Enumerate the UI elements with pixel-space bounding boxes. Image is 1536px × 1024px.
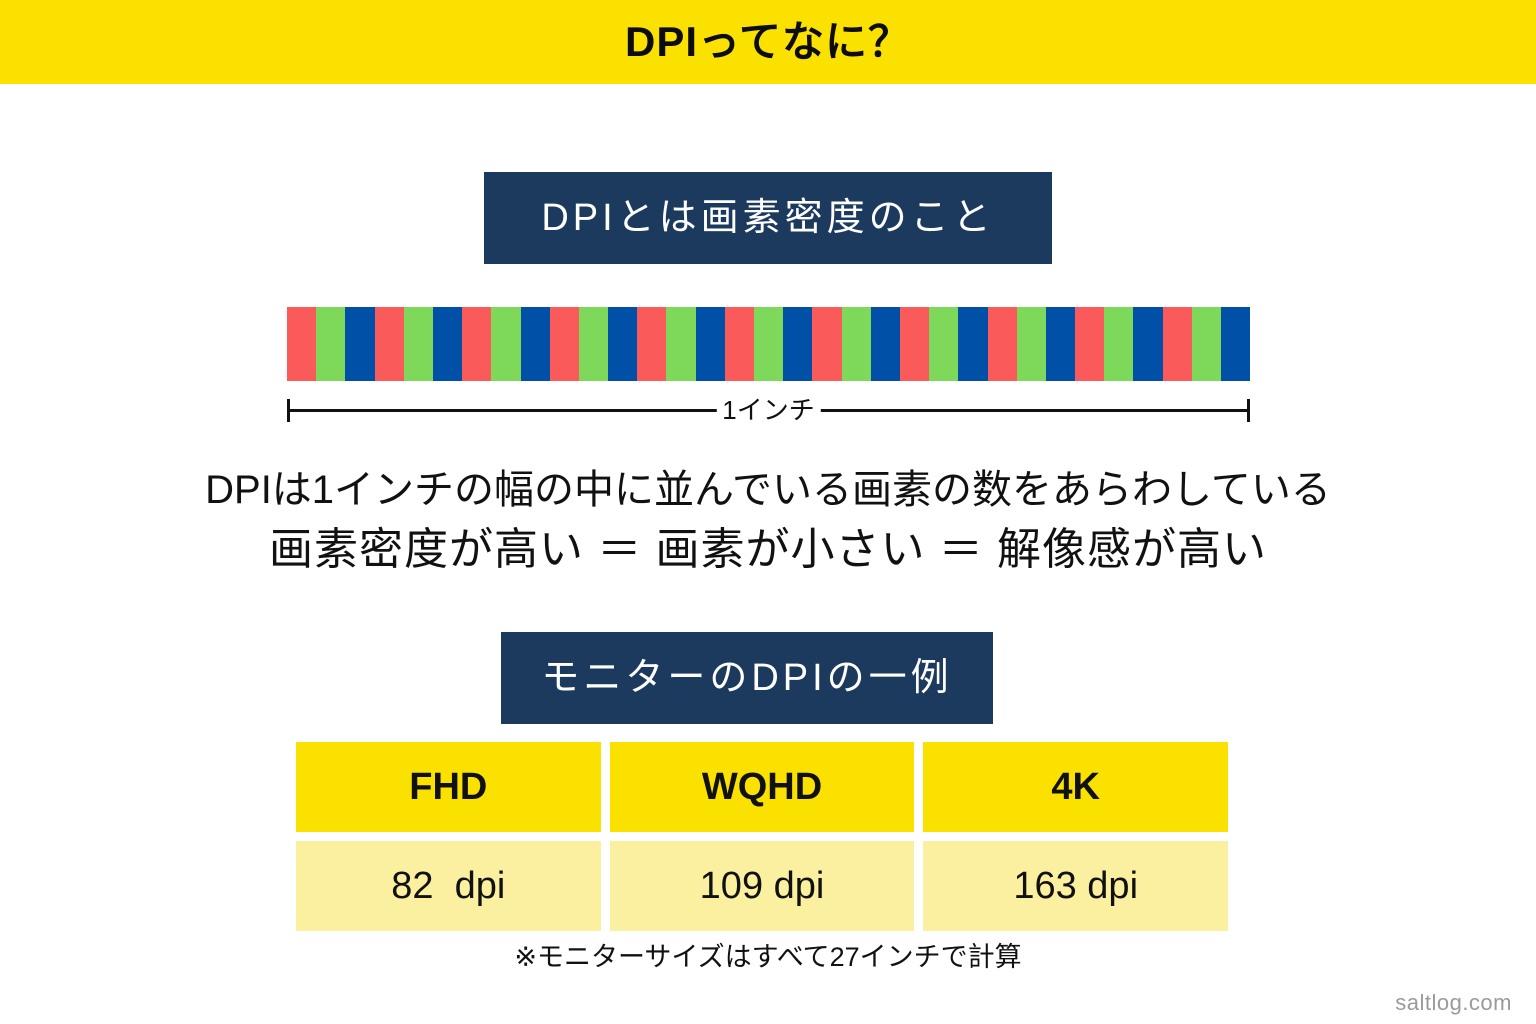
pixel-stripe-blue — [958, 307, 987, 381]
pixel-density-stripe-bar — [287, 307, 1250, 381]
section-heading-monitor-examples-label: モニターのDPIの一例 — [541, 659, 952, 697]
title-banner: DPIってなに？ — [0, 0, 1536, 84]
pixel-stripe-red — [812, 307, 841, 381]
dimension-label: 1インチ — [716, 397, 820, 423]
pixel-stripe-blue — [433, 307, 462, 381]
dimension-cap-left — [287, 399, 290, 422]
pixel-stripe-red — [900, 307, 929, 381]
one-inch-dimension-line: 1インチ — [287, 392, 1250, 428]
pixel-stripe-red — [725, 307, 754, 381]
table-header-cell: FHD — [296, 742, 601, 832]
table-row-headers: FHD WQHD 4K — [296, 742, 1228, 832]
pixel-stripe-red — [1075, 307, 1104, 381]
pixel-stripe-green — [842, 307, 871, 381]
pixel-stripe-green — [404, 307, 433, 381]
pixel-stripe-blue — [1221, 307, 1250, 381]
pixel-stripe-blue — [1046, 307, 1075, 381]
pixel-stripe-green — [1192, 307, 1221, 381]
site-watermark: saltlog.com — [1395, 992, 1512, 1014]
pixel-stripe-red — [988, 307, 1017, 381]
dimension-cap-right — [1247, 399, 1250, 422]
page-title: DPIってなに？ — [625, 21, 911, 63]
pixel-stripe-green — [316, 307, 345, 381]
table-footnote: ※モニターサイズはすべて27インチで計算 — [0, 944, 1536, 971]
pixel-stripe-green — [491, 307, 520, 381]
description-line-2: 画素密度が高い ＝ 画素が小さい ＝ 解像感が高い — [0, 528, 1536, 572]
pixel-stripe-red — [287, 307, 316, 381]
pixel-stripe-blue — [696, 307, 725, 381]
pixel-stripe-red — [550, 307, 579, 381]
pixel-stripe-green — [579, 307, 608, 381]
pixel-stripe-blue — [608, 307, 637, 381]
pixel-stripe-green — [1104, 307, 1133, 381]
pixel-stripe-green — [929, 307, 958, 381]
table-header-cell: 4K — [923, 742, 1228, 832]
pixel-stripe-green — [1017, 307, 1046, 381]
pixel-stripe-blue — [783, 307, 812, 381]
pixel-stripe-blue — [345, 307, 374, 381]
table-value-cell: 109 dpi — [610, 841, 915, 931]
table-value-cell: 82 dpi — [296, 841, 601, 931]
section-heading-definition-label: DPIとは画素密度のこと — [541, 199, 994, 237]
pixel-stripe-blue — [871, 307, 900, 381]
table-row-values: 82 dpi 109 dpi 163 dpi — [296, 841, 1228, 931]
pixel-stripe-blue — [521, 307, 550, 381]
table-value-cell: 163 dpi — [923, 841, 1228, 931]
table-header-cell: WQHD — [610, 742, 915, 832]
pixel-stripe-red — [637, 307, 666, 381]
section-heading-monitor-examples: モニターのDPIの一例 — [501, 632, 993, 724]
pixel-stripe-green — [754, 307, 783, 381]
section-heading-definition: DPIとは画素密度のこと — [484, 172, 1052, 264]
pixel-stripe-red — [375, 307, 404, 381]
description-line-1: DPIは1インチの幅の中に並んでいる画素の数をあらわしている — [0, 470, 1536, 510]
dpi-table: FHD WQHD 4K 82 dpi 109 dpi 163 dpi — [296, 742, 1228, 940]
pixel-stripe-red — [1163, 307, 1192, 381]
pixel-stripe-blue — [1133, 307, 1162, 381]
pixel-stripe-green — [666, 307, 695, 381]
pixel-stripe-red — [462, 307, 491, 381]
